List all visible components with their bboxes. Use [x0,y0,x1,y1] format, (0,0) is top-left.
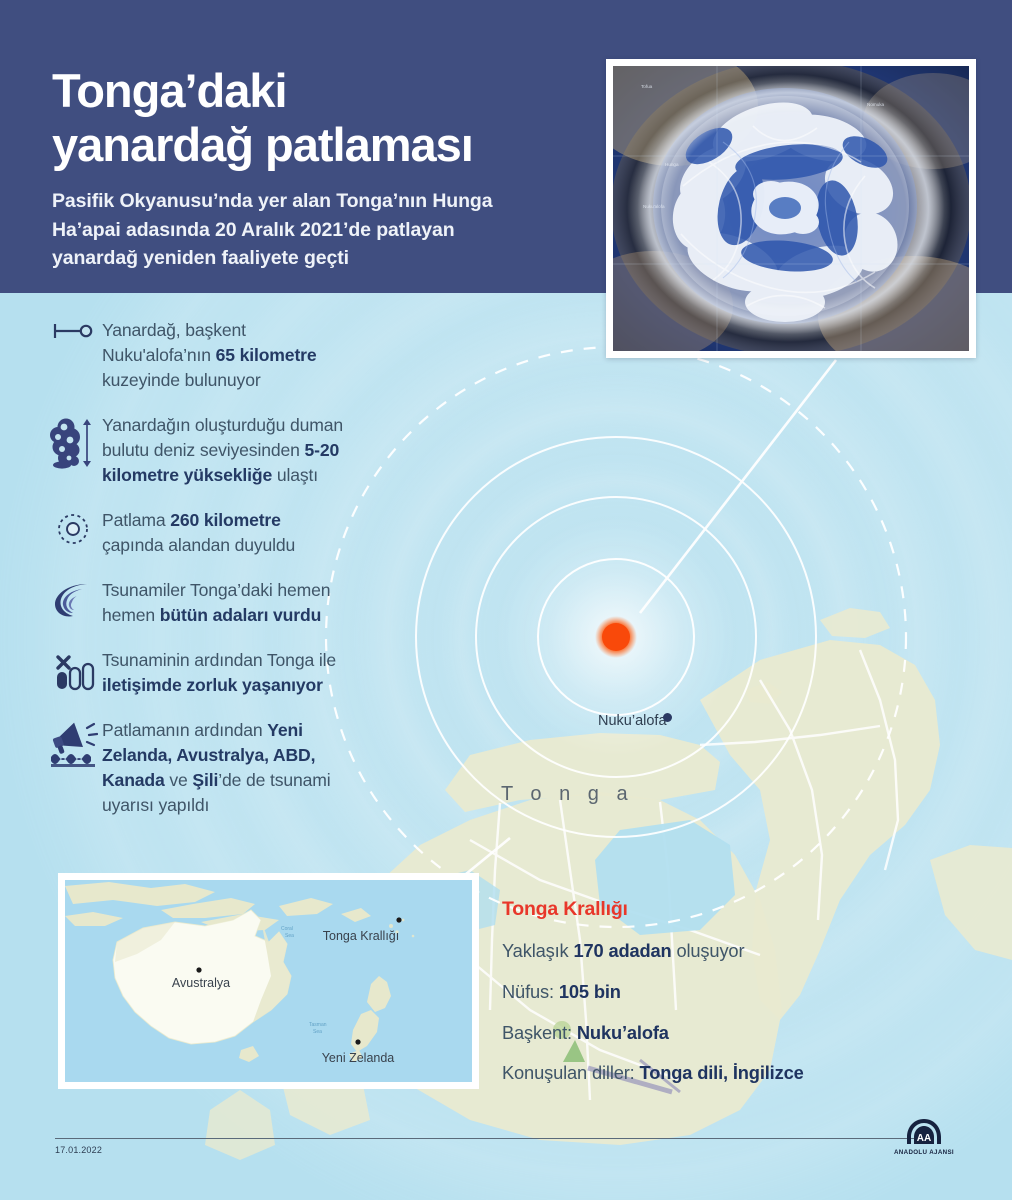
headline-line-2: yanardağ patlaması [52,118,597,172]
agency-logo: AA ANADOLU AJANSI [893,1117,955,1156]
inset-sea-label: Sea [285,933,294,939]
agency-logo-mark: AA [904,1117,944,1147]
subhead-line-2: Ha’apai adasında 20 Aralık 2021’de patla… [52,216,597,244]
no-signal-icon [44,648,102,694]
country-info-title: Tonga Krallığı [502,898,942,921]
smoke-cloud-height-icon [44,413,102,471]
fact-text: Yanardağ, başkentNuku'alofa’nın 65 kilom… [102,318,316,393]
country-info-line: Konuşulan diller: Tonga dili, İngilizce [502,1061,942,1085]
regional-inset-map: Coral Sea Tasman Sea Tonga Krallığı Avus… [58,873,479,1089]
tsunami-warning-megaphone-icon [44,718,102,768]
country-info-line: Yaklaşık 170 adadan oluşuyor [502,939,942,963]
svg-text:Nuku'alofa: Nuku'alofa [643,204,665,209]
distance-marker-icon [44,318,102,342]
country-info-line: Nüfus: 105 bin [502,980,942,1004]
svg-text:Hunga: Hunga [665,162,679,167]
publish-date: 17.01.2022 [55,1145,102,1155]
page-subtitle: Pasifik Okyanusu’nda yer alan Tonga’nın … [52,187,597,272]
satellite-photo-image: Tofua Nomuka Hunga Nuku'alofa [613,66,969,351]
satellite-eruption-photo: Tofua Nomuka Hunga Nuku'alofa [606,59,976,358]
inset-label-newzealand: Yeni Zelanda [322,1051,395,1065]
blast-radius-icon [44,508,102,548]
header-text-block: Tonga’daki yanardağ patlaması Pasifik Ok… [52,64,597,273]
fact-text: Patlamanın ardından YeniZelanda, Avustra… [102,718,331,818]
fact-text: Tsunaminin ardından Tonga ileiletişimde … [102,648,336,698]
inset-label-australia: Avustralya [172,976,230,990]
svg-text:Tofua: Tofua [641,84,653,89]
country-info-panel: Tonga Krallığı Yaklaşık 170 adadan oluşu… [502,898,942,1102]
subhead-line-3: yanardağ yeniden faaliyete geçti [52,244,597,272]
list-item: Patlamanın ardından YeniZelanda, Avustra… [44,718,404,818]
list-item: Yanardağ, başkentNuku'alofa’nın 65 kilom… [44,318,404,393]
inset-sea-label: Sea [313,1029,322,1035]
subhead-line-1: Pasifik Okyanusu’nda yer alan Tonga’nın … [52,187,597,215]
inset-label-tonga: Tonga Krallığı [323,929,399,943]
list-item: Yanardağın oluşturduğu dumanbulutu deniz… [44,413,404,488]
fact-list: Yanardağ, başkentNuku'alofa’nın 65 kilom… [44,318,404,838]
inset-sea-label: Coral [281,926,293,932]
list-item: Patlama 260 kilometreçapında alandan duy… [44,508,404,558]
svg-text:Nomuka: Nomuka [867,102,885,107]
country-info-line: Başkent: Nuku’alofa [502,1021,942,1045]
footer-divider [55,1138,927,1139]
infographic-root: Nuku’alofa T o n g a Tonga’daki yanardağ… [0,0,1012,1200]
svg-text:AA: AA [917,1133,931,1144]
list-item: Tsunaminin ardından Tonga ileiletişimde … [44,648,404,698]
headline-line-1: Tonga’daki [52,64,597,118]
page-title: Tonga’daki yanardağ patlaması [52,64,597,171]
inset-map-image: Coral Sea Tasman Sea Tonga Krallığı Avus… [65,880,472,1082]
agency-logo-name: ANADOLU AJANSI [893,1149,955,1156]
fact-text: Patlama 260 kilometreçapında alandan duy… [102,508,295,558]
inset-sea-label: Tasman [309,1022,327,1028]
tsunami-wave-icon [44,578,102,620]
fact-text: Tsunamiler Tonga’daki hemenhemen bütün a… [102,578,330,628]
list-item: Tsunamiler Tonga’daki hemenhemen bütün a… [44,578,404,628]
fact-text: Yanardağın oluşturduğu dumanbulutu deniz… [102,413,343,488]
